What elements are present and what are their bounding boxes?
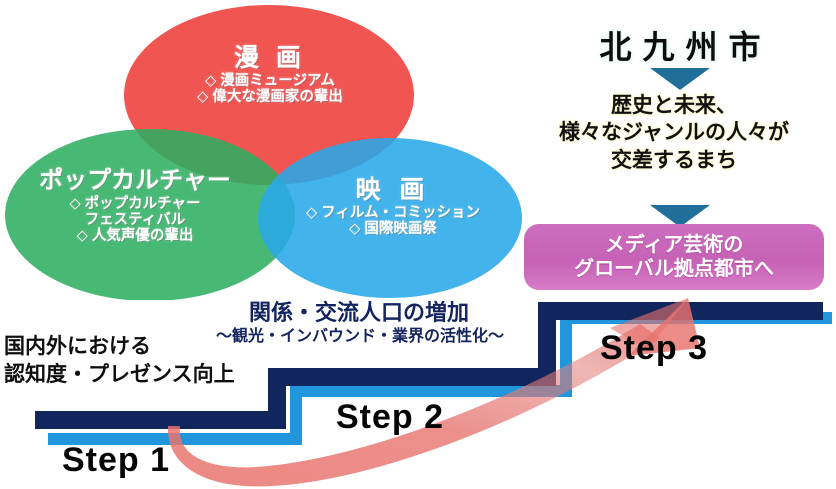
down-arrow-icon-top <box>650 68 710 90</box>
vision-line-1: 歴史と未来、 <box>512 92 836 119</box>
vision-statement: 歴史と未来、 様々なジャンルの人々が 交差するまち <box>512 92 836 174</box>
goal-line-1: メディア芸術の <box>605 233 744 257</box>
step1-caption: 国内外における 認知度・プレゼンス向上 <box>4 333 235 388</box>
vision-line-3: 交差するまち <box>512 147 836 174</box>
step2-caption-title: 関係・交流人口の増加 <box>249 300 469 326</box>
venn-circle-film <box>258 138 522 298</box>
step1-label: Step 1 <box>62 441 170 480</box>
step1-caption-line-1: 国内外における <box>4 333 235 361</box>
goal-line-2: グローバル拠点都市へ <box>574 257 774 281</box>
step3-label: Step 3 <box>600 329 708 368</box>
venn-diagram: 漫 画 ◇ 漫画ミュージアム ◇ 偉大な漫画家の輩出 ポップカルチャー ◇ ポッ… <box>0 0 540 300</box>
venn-circle-pop-culture <box>5 129 295 300</box>
step2-label: Step 2 <box>336 398 444 437</box>
step2-caption-sub: 〜観光・インバウンド・業界の活性化〜 <box>216 327 504 346</box>
step1-caption-line-2: 認知度・プレゼンス向上 <box>4 361 235 389</box>
venn-circles-svg <box>0 0 540 300</box>
vision-line-2: 様々なジャンルの人々が <box>512 119 836 146</box>
city-title: 北九州市 <box>530 22 830 68</box>
diagram-canvas: 漫 画 ◇ 漫画ミュージアム ◇ 偉大な漫画家の輩出 ポップカルチャー ◇ ポッ… <box>0 0 836 489</box>
